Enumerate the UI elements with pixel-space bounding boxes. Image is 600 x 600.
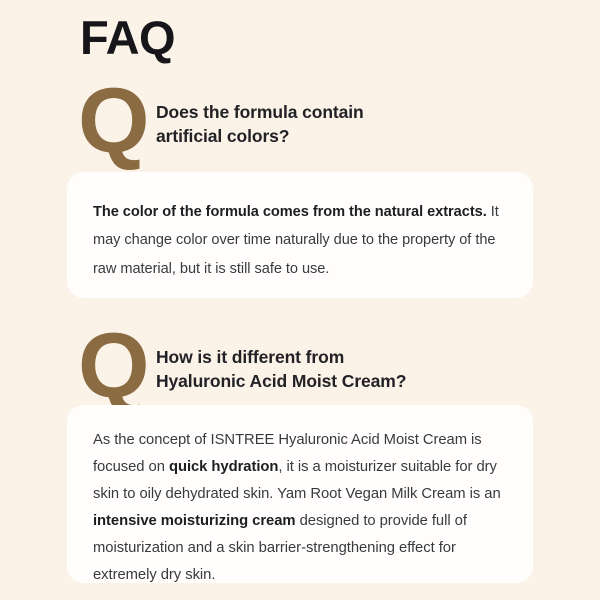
answer-emphasis: The color of the formula comes from the … — [93, 204, 487, 220]
answer-text-1: The color of the formula comes from the … — [93, 198, 507, 283]
question-text-2: How is it different from Hyaluronic Acid… — [156, 345, 406, 393]
answer-card-1: The color of the formula comes from the … — [67, 172, 533, 298]
faq-question-2: Q How is it different from Hyaluronic Ac… — [78, 333, 406, 404]
faq-page: FAQ Q Does the formula contain artificia… — [0, 0, 600, 600]
question-line: Hyaluronic Acid Moist Cream? — [156, 369, 406, 393]
question-line: How is it different from — [156, 345, 406, 369]
question-text-1: Does the formula contain artificial colo… — [156, 100, 364, 148]
question-marker-icon: Q — [78, 84, 152, 159]
answer-text-2: As the concept of ISNTREE Hyaluronic Aci… — [93, 427, 507, 589]
answer-emphasis: intensive moisturizing cream — [93, 513, 296, 529]
faq-question-1: Q Does the formula contain artificial co… — [78, 88, 364, 159]
question-line: Does the formula contain — [156, 100, 364, 124]
page-title: FAQ — [80, 11, 175, 65]
question-marker-icon: Q — [78, 329, 152, 404]
answer-emphasis: quick hydration — [169, 459, 278, 475]
question-line: artificial colors? — [156, 124, 364, 148]
answer-card-2: As the concept of ISNTREE Hyaluronic Aci… — [67, 405, 533, 583]
